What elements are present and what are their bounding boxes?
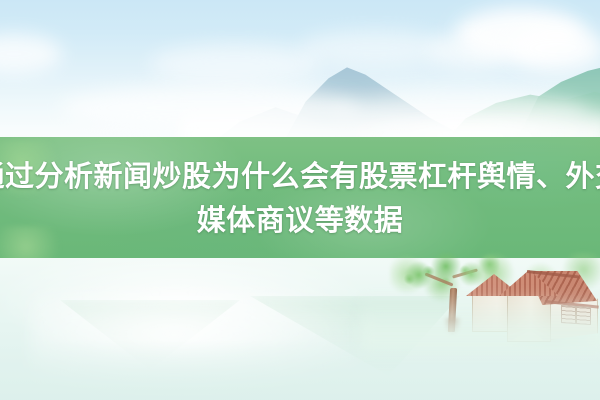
title-line-2: 媒体商议等数据 xyxy=(197,198,404,242)
cloud-top-right-c-icon xyxy=(430,34,510,68)
title-line-1: 通过分析新闻炒股为什么会有股票杠杆舆情、外交 xyxy=(0,154,600,198)
cloud-middle-a-icon xyxy=(150,44,320,84)
bottom-fade-overlay xyxy=(0,340,600,400)
cloud-top-right-b-icon xyxy=(508,26,600,70)
title-block: 通过分析新闻炒股为什么会有股票杠杆舆情、外交 媒体商议等数据 xyxy=(0,137,600,258)
banner-image: 通过分析新闻炒股为什么会有股票杠杆舆情、外交 媒体商议等数据 xyxy=(0,0,600,400)
cloud-middle-b-icon xyxy=(300,30,450,66)
